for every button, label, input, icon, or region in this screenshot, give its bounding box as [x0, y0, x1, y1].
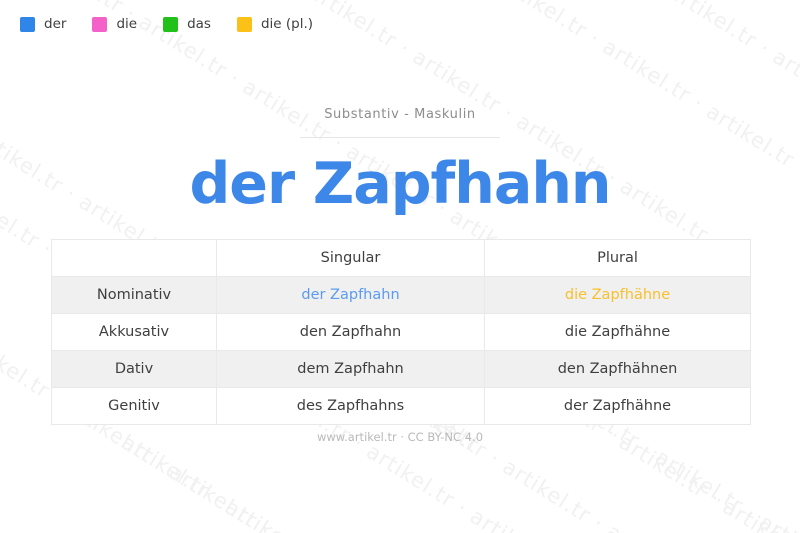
table-header-row: Singular Plural [52, 240, 751, 277]
legend-der-label: der [44, 18, 66, 32]
table-row: Akkusativden Zapfhahndie Zapfhähne [52, 314, 751, 351]
table-header: Singular Plural [52, 240, 751, 277]
legend-das: das [163, 17, 211, 32]
cell-case: Genitiv [52, 388, 217, 425]
legend-der-swatch-icon [20, 17, 35, 32]
cell-plural: die Zapfhähne [485, 277, 751, 314]
footer-credit: www.artikel.tr · CC BY-NC 4.0 [0, 430, 800, 444]
article-color-legend: derdiedasdie (pl.) [20, 17, 313, 32]
cell-singular: den Zapfhahn [217, 314, 485, 351]
column-header-singular: Singular [217, 240, 485, 277]
legend-das-label: das [187, 18, 211, 32]
part-of-speech-line: Substantiv - Maskulin [0, 108, 800, 122]
column-header-case [52, 240, 217, 277]
cell-case: Akkusativ [52, 314, 217, 351]
header-divider [300, 137, 500, 138]
cell-case: Dativ [52, 351, 217, 388]
table-body: Nominativder Zapfhahndie ZapfhähneAkkusa… [52, 277, 751, 425]
legend-das-swatch-icon [163, 17, 178, 32]
cell-plural: die Zapfhähne [485, 314, 751, 351]
legend-die-plural-swatch-icon [237, 17, 252, 32]
watermark-text: artikel.tr · artikel.tr · artikel.tr · a… [117, 430, 733, 533]
cell-singular: der Zapfhahn [217, 277, 485, 314]
legend-der: der [20, 17, 66, 32]
legend-die-label: die [116, 18, 137, 32]
table-row: Nominativder Zapfhahndie Zapfhähne [52, 277, 751, 314]
table-row: Dativdem Zapfhahnden Zapfhähnen [52, 351, 751, 388]
column-header-plural: Plural [485, 240, 751, 277]
header-block: Substantiv - Maskulin der Zapfhahn [0, 108, 800, 218]
cell-case: Nominativ [52, 277, 217, 314]
table-row: Genitivdes Zapfhahnsder Zapfhähne [52, 388, 751, 425]
declension-table: Singular Plural Nominativder Zapfhahndie… [51, 239, 751, 425]
legend-die-plural: die (pl.) [237, 17, 313, 32]
legend-die-plural-label: die (pl.) [261, 18, 313, 32]
cell-singular: des Zapfhahns [217, 388, 485, 425]
cell-plural: den Zapfhähnen [485, 351, 751, 388]
cell-singular: dem Zapfhahn [217, 351, 485, 388]
legend-die-swatch-icon [92, 17, 107, 32]
page-title: der Zapfhahn [0, 152, 800, 218]
legend-die: die [92, 17, 137, 32]
cell-plural: der Zapfhähne [485, 388, 751, 425]
